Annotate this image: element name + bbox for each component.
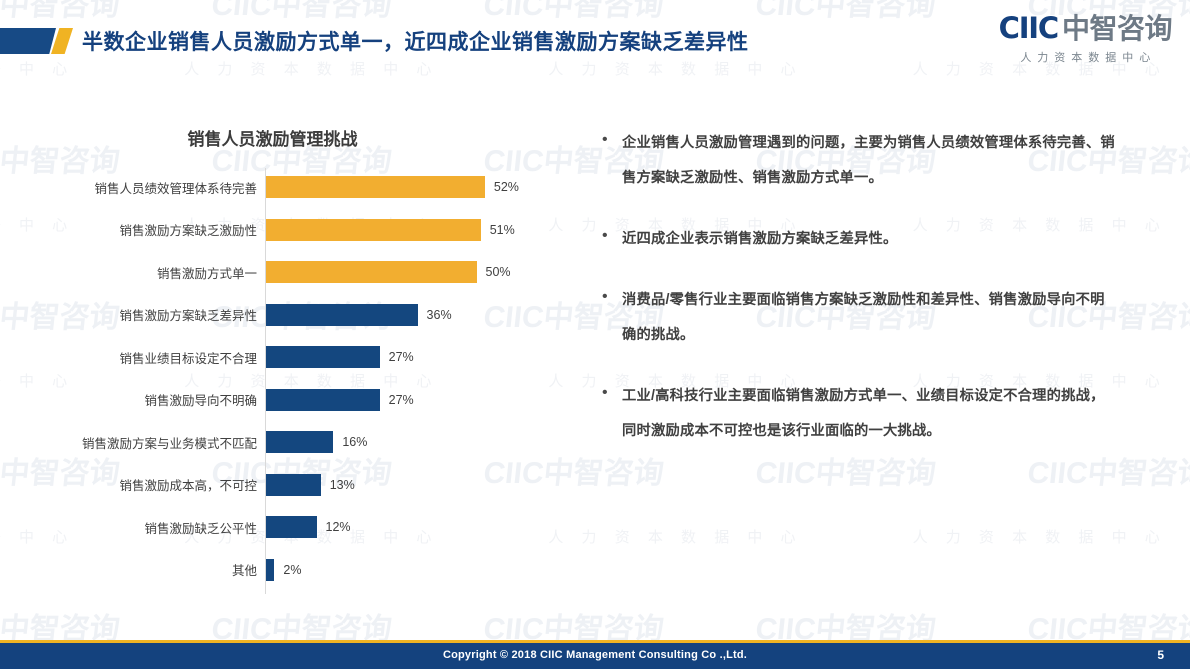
chart-bar-label: 销售激励成本高，不可控 <box>17 475 257 494</box>
chart-bar-row: 销售激励缺乏公平性12% <box>0 516 585 538</box>
chart-bar-value: 2% <box>283 563 301 577</box>
chart-bar-label: 销售激励方式单一 <box>17 263 257 282</box>
watermark-sub-text: 人 力 资 本 数 据 中 心 <box>913 526 1167 547</box>
bullet-text: 企业销售人员激励管理遇到的问题，主要为销售人员绩效管理体系待完善、销售方案缺乏激… <box>622 126 1118 196</box>
chart-bar-row: 其他2% <box>0 559 585 581</box>
chart-bar-label: 销售激励导向不明确 <box>17 390 257 409</box>
bullet-item: •企业销售人员激励管理遇到的问题，主要为销售人员绩效管理体系待完善、销售方案缺乏… <box>598 126 1118 196</box>
bullet-list: •企业销售人员激励管理遇到的问题，主要为销售人员绩效管理体系待完善、销售方案缺乏… <box>598 126 1118 475</box>
logo-chinese-text: 中智咨询 <box>1062 15 1172 43</box>
chart-bar <box>266 261 477 283</box>
bullet-text: 消费品/零售行业主要面临销售方案缺乏激励性和差异性、销售激励导向不明确的挑战。 <box>622 283 1118 353</box>
chart-bar-row: 销售激励方案缺乏激励性51% <box>0 219 585 241</box>
chart-bar <box>266 176 485 198</box>
chart-bar-value: 51% <box>490 223 515 237</box>
chart-bar-label: 销售激励方案缺乏差异性 <box>17 305 257 324</box>
header-accent-blue <box>0 28 56 54</box>
chart-bar-row: 销售业绩目标设定不合理27% <box>0 346 585 368</box>
chart-bar-label: 其他 <box>17 560 257 579</box>
bullet-item: •近四成企业表示销售激励方案缺乏差异性。 <box>598 222 1118 257</box>
chart-bar-value: 52% <box>494 180 519 194</box>
bullet-item: •消费品/零售行业主要面临销售方案缺乏激励性和差异性、销售激励导向不明确的挑战。 <box>598 283 1118 353</box>
chart-bar <box>266 516 317 538</box>
bar-chart-plot: 销售人员绩效管理体系待完善52%销售激励方案缺乏激励性51%销售激励方式单一50… <box>0 168 585 618</box>
bullet-text: 工业/高科技行业主要面临销售激励方式单一、业绩目标设定不合理的挑战，同时激励成本… <box>622 379 1118 449</box>
chart-bar-label: 销售激励方案与业务模式不匹配 <box>17 433 257 452</box>
chart-bar-value: 50% <box>486 265 511 279</box>
chart-bar <box>266 559 274 581</box>
bullet-marker-icon: • <box>598 222 622 249</box>
bullet-marker-icon: • <box>598 283 622 310</box>
chart-title: 销售人员激励管理挑战 <box>0 125 585 150</box>
chart-bar-row: 销售人员绩效管理体系待完善52% <box>0 176 585 198</box>
chart-bar-value: 27% <box>389 350 414 364</box>
chart-bar-label: 销售人员绩效管理体系待完善 <box>17 178 257 197</box>
bullet-text: 近四成企业表示销售激励方案缺乏差异性。 <box>622 222 1118 257</box>
chart-bar <box>266 304 418 326</box>
brand-logo: CIIC 中智咨询 人力资本数据中心 <box>999 14 1172 65</box>
chart-bar <box>266 346 380 368</box>
watermark-sub-text: 人 力 资 本 数 据 中 心 <box>548 526 802 547</box>
chart-bar-value: 27% <box>389 393 414 407</box>
chart-bar-row: 销售激励成本高，不可控13% <box>0 474 585 496</box>
chart-bar <box>266 431 333 453</box>
logo-ciic-text: CIIC <box>999 14 1058 43</box>
chart-bar <box>266 474 321 496</box>
page-number: 5 <box>1157 640 1164 669</box>
chart-bar-row: 销售激励导向不明确27% <box>0 389 585 411</box>
chart-bar-value: 36% <box>427 308 452 322</box>
bullet-marker-icon: • <box>598 379 622 406</box>
chart-bar-label: 销售激励缺乏公平性 <box>17 518 257 537</box>
logo-subtitle: 人力资本数据中心 <box>999 49 1172 65</box>
chart-bar-label: 销售激励方案缺乏激励性 <box>17 220 257 239</box>
slide-footer: Copyright © 2018 CIIC Management Consult… <box>0 640 1190 669</box>
chart-bar-value: 13% <box>330 478 355 492</box>
chart-bar-value: 16% <box>342 435 367 449</box>
chart-bar-row: 销售激励方案缺乏差异性36% <box>0 304 585 326</box>
slide-header: 半数企业销售人员激励方式单一，近四成企业销售激励方案缺乏差异性 CIIC 中智咨… <box>0 0 1190 80</box>
footer-copyright: Copyright © 2018 CIIC Management Consult… <box>0 640 1190 669</box>
chart-bar-value: 12% <box>326 520 351 534</box>
chart-bar-label: 销售业绩目标设定不合理 <box>17 348 257 367</box>
bullet-marker-icon: • <box>598 126 622 153</box>
page-title: 半数企业销售人员激励方式单一，近四成企业销售激励方案缺乏差异性 <box>82 26 749 56</box>
chart-bar-row: 销售激励方式单一50% <box>0 261 585 283</box>
chart-panel: 销售人员激励管理挑战 销售人员绩效管理体系待完善52%销售激励方案缺乏激励性51… <box>0 100 585 620</box>
chart-bar <box>266 219 481 241</box>
bullet-item: •工业/高科技行业主要面临销售激励方式单一、业绩目标设定不合理的挑战，同时激励成… <box>598 379 1118 449</box>
chart-bar <box>266 389 380 411</box>
chart-bar-row: 销售激励方案与业务模式不匹配16% <box>0 431 585 453</box>
